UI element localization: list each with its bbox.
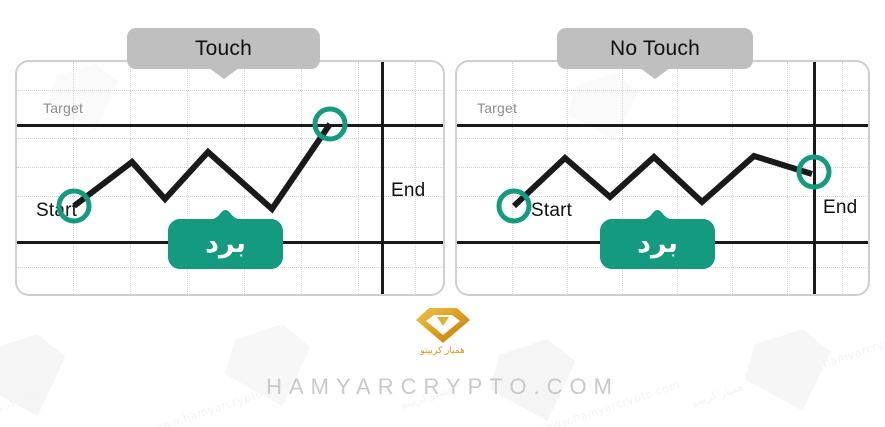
win-badge-label: برد xyxy=(168,210,283,269)
callout-tail-icon xyxy=(209,68,239,79)
callout-tail-icon xyxy=(640,68,670,79)
diamond-logo-icon xyxy=(412,305,474,345)
win-badge-no-touch: برد xyxy=(600,210,715,269)
brand-url: HAMYARCRYPTO.COM xyxy=(0,374,885,400)
win-badge-touch: برد xyxy=(168,210,283,269)
price-polyline xyxy=(74,124,330,209)
callout-no-touch: No Touch xyxy=(557,28,753,69)
callout-touch: Touch xyxy=(127,28,320,69)
callout-label: No Touch xyxy=(610,38,700,59)
callout-label: Touch xyxy=(195,38,252,59)
illustration-root: همیار کریپتو www.hamyarcrypto.com همیار … xyxy=(0,0,885,427)
win-badge-label: برد xyxy=(600,210,715,269)
brand-persian-name: همیار کریپتو xyxy=(0,346,885,356)
brand-footer: همیار کریپتو HAMYARCRYPTO.COM xyxy=(0,305,885,400)
price-polyline xyxy=(514,156,812,206)
